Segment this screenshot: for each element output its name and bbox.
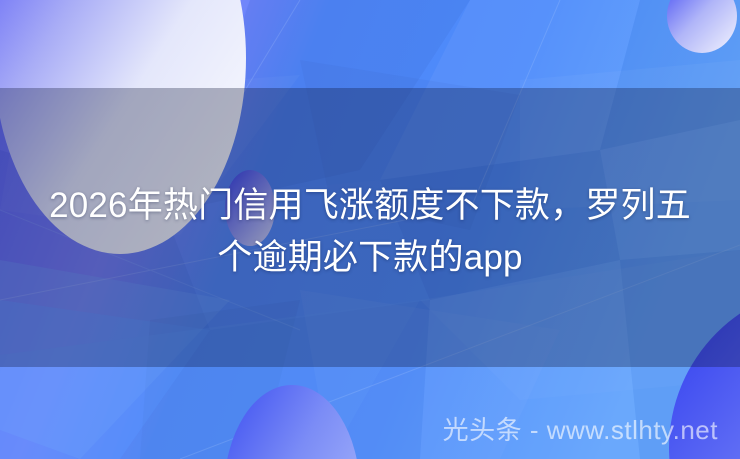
page-title: 2026年热门信用飞涨额度不下款，罗列五个逾期必下款的app (40, 180, 700, 284)
cover-image: 2026年热门信用飞涨额度不下款，罗列五个逾期必下款的app 光头条 - www… (0, 0, 740, 459)
title-container: 2026年热门信用飞涨额度不下款，罗列五个逾期必下款的app (0, 0, 740, 459)
